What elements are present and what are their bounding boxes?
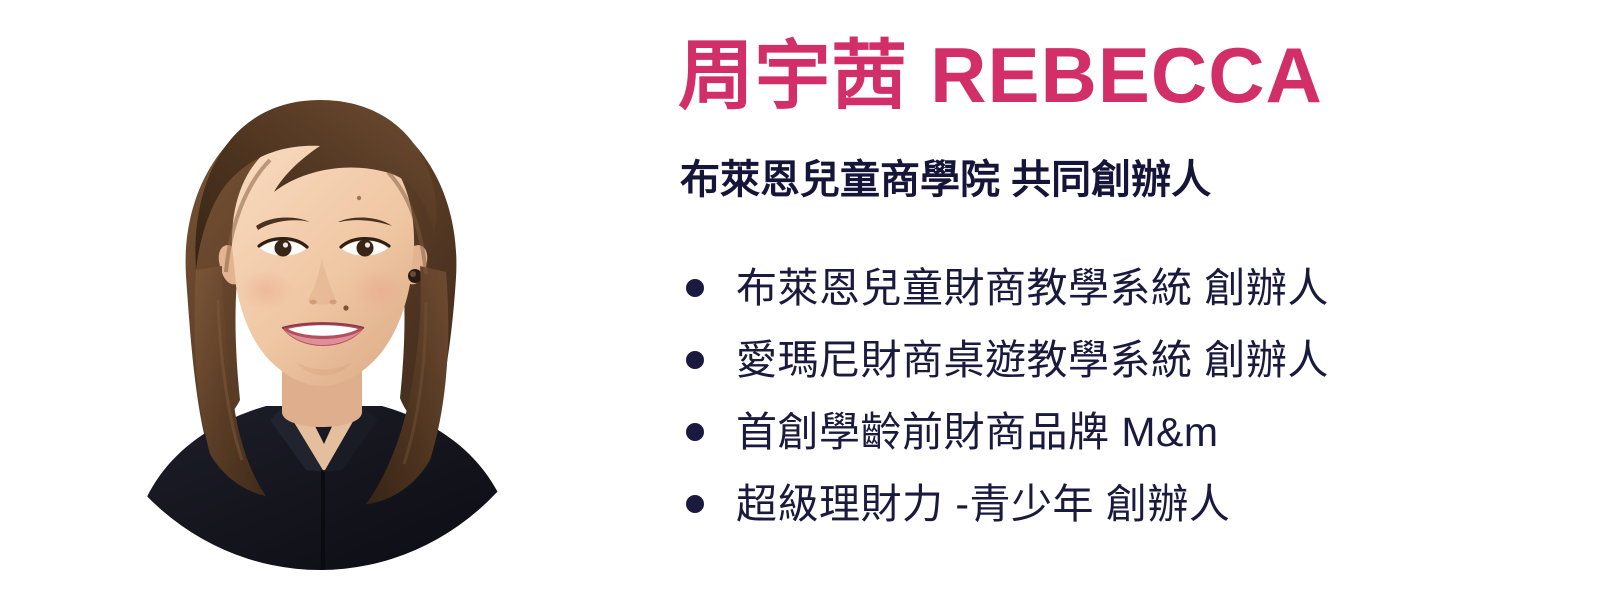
portrait-container (40, 0, 600, 593)
title-name-chinese: 周宇茜 (678, 34, 908, 119)
page-subtitle: 布萊恩兒童商學院 共同創辦人 (680, 158, 1211, 203)
credentials-list: 布萊恩兒童財商教學系統 創辦人 愛瑪尼財商桌遊教學系統 創辦人 首創學齡前財商品… (686, 252, 1329, 540)
profile-banner: 周宇茜 REBECCA 布萊恩兒童商學院 共同創辦人 布萊恩兒童財商教學系統 創… (0, 0, 1600, 593)
bullet-icon (686, 351, 704, 369)
profile-text-column: 周宇茜 REBECCA 布萊恩兒童商學院 共同創辦人 布萊恩兒童財商教學系統 創… (678, 0, 1578, 593)
list-item-label: 首創學齡前財商品牌 M&m (736, 412, 1219, 453)
list-item: 布萊恩兒童財商教學系統 創辦人 (686, 252, 1329, 324)
bullet-icon (686, 423, 704, 441)
list-item-label: 超級理財力 -青少年 創辦人 (736, 484, 1230, 525)
list-item: 愛瑪尼財商桌遊教學系統 創辦人 (686, 324, 1329, 396)
list-item: 首創學齡前財商品牌 M&m (686, 396, 1329, 468)
portrait-photo (70, 40, 570, 570)
bullet-icon (686, 279, 704, 297)
title-name-english (908, 31, 931, 119)
list-item: 超級理財力 -青少年 創辦人 (686, 468, 1329, 540)
list-item-label: 愛瑪尼財商桌遊教學系統 創辦人 (736, 340, 1329, 381)
bullet-icon (686, 495, 704, 513)
list-item-label: 布萊恩兒童財商教學系統 創辦人 (736, 268, 1329, 309)
page-title: 周宇茜 REBECCA (678, 36, 1323, 115)
title-name-english-text: REBECCA (930, 31, 1323, 119)
